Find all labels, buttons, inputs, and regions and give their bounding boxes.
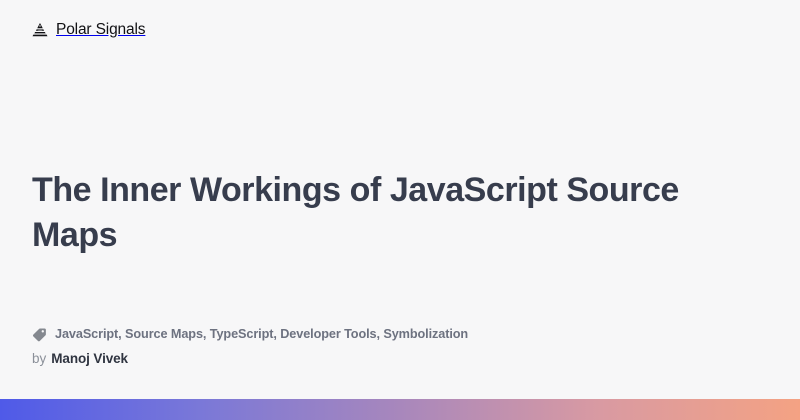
post-meta: JavaScript, Source Maps, TypeScript, Dev… xyxy=(32,327,762,367)
author-name: Manoj Vivek xyxy=(51,351,128,367)
polar-signals-pyramid-logo-icon xyxy=(31,21,49,39)
brand-name: Polar Signals xyxy=(56,22,145,38)
byline-prefix: by xyxy=(32,351,46,367)
brand-logo-link[interactable]: Polar Signals xyxy=(31,21,145,39)
blog-post-header-page: Polar Signals The Inner Workings of Java… xyxy=(0,0,800,420)
page-title: The Inner Workings of JavaScript Source … xyxy=(32,168,702,257)
byline: by Manoj Vivek xyxy=(32,351,762,367)
tags-label: JavaScript, Source Maps, TypeScript, Dev… xyxy=(55,327,468,342)
bottom-gradient-bar xyxy=(0,399,800,420)
tag-icon xyxy=(32,327,47,342)
tags-row: JavaScript, Source Maps, TypeScript, Dev… xyxy=(32,327,762,342)
